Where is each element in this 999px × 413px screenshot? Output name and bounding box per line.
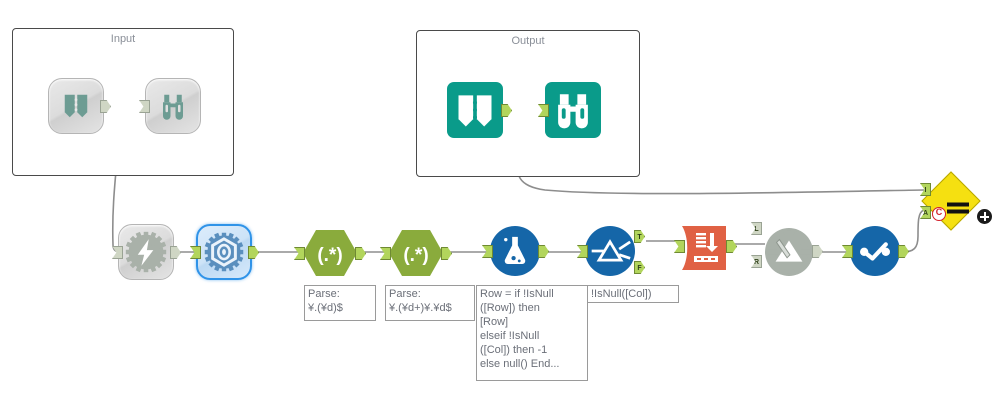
join-bottom-input-label: A [921, 207, 930, 218]
sort-input-port[interactable] [674, 240, 685, 253]
append-left-label: L [752, 223, 761, 234]
regex-1-body[interactable]: (.*) [302, 228, 358, 278]
append-output-port[interactable] [812, 245, 823, 258]
tool-input-data-disabled[interactable] [48, 78, 104, 134]
append-right-port[interactable]: R [751, 255, 762, 268]
run-command-input-port[interactable] [112, 246, 123, 259]
tool-filter[interactable]: T F [585, 226, 635, 276]
lightning-icon [124, 230, 168, 274]
select-input-port[interactable] [842, 245, 853, 258]
tool-macro-selected[interactable] [196, 224, 252, 280]
binoculars-icon [552, 89, 594, 131]
filter-input-port[interactable] [577, 245, 588, 258]
select-output-port[interactable] [898, 245, 909, 258]
filter-true-port[interactable]: T [634, 230, 645, 243]
svg-text:(.*): (.*) [317, 245, 342, 266]
join-top-input-label: I [921, 184, 930, 195]
flask-icon [498, 234, 532, 268]
append-left-port[interactable]: L [751, 222, 762, 235]
macro-output-port[interactable] [248, 246, 259, 259]
tool-run-command-disabled[interactable] [118, 224, 174, 280]
output-container-title: Output [417, 35, 639, 47]
regex-1-output-port[interactable] [355, 247, 366, 260]
tool-browse-disabled[interactable] [145, 78, 201, 134]
output-browse-body[interactable] [545, 82, 601, 138]
tool-formula[interactable] [490, 226, 540, 276]
regex-1-input-port[interactable] [294, 247, 305, 260]
browse-tool-body[interactable] [145, 78, 201, 134]
join-conflict-badge[interactable]: C [932, 207, 946, 221]
gear-eye-icon [203, 231, 245, 273]
filter-body[interactable] [585, 226, 635, 276]
regex-icon: (.*) [302, 228, 358, 278]
prism-icon [588, 229, 632, 273]
sort-output-port[interactable] [726, 240, 737, 253]
macro-body[interactable] [196, 224, 252, 280]
select-body[interactable] [850, 226, 900, 276]
checkmark-icon [855, 231, 895, 271]
input-container-title: Input [13, 33, 233, 45]
tool-output-browse[interactable] [545, 82, 601, 138]
append-right-label: R [752, 256, 761, 267]
tool-append-disabled[interactable]: L R [765, 228, 813, 276]
tool-sort[interactable] [680, 224, 730, 270]
join-bottom-input-port[interactable]: A [920, 206, 931, 219]
filter-true-label: T [635, 231, 644, 242]
macro-input-port[interactable] [190, 246, 201, 259]
append-body[interactable] [765, 228, 813, 276]
run-command-body[interactable] [118, 224, 174, 280]
svg-text:(.*): (.*) [403, 245, 428, 266]
formula-output-port[interactable] [538, 245, 549, 258]
book-icon [61, 91, 91, 121]
regex-icon: (.*) [388, 228, 444, 278]
filter-annotation: !IsNull([Col]) [587, 285, 679, 303]
regex-2-body[interactable]: (.*) [388, 228, 444, 278]
run-command-output-port[interactable] [170, 246, 181, 259]
regex-2-output-port[interactable] [441, 247, 452, 260]
tool-regex-1[interactable]: (.*) [302, 228, 358, 278]
sort-icon [680, 224, 732, 272]
tool-regex-2[interactable]: (.*) [388, 228, 444, 278]
filter-false-label: F [635, 262, 644, 273]
book-icon [453, 88, 497, 132]
formula-body[interactable] [490, 226, 540, 276]
join-top-input-port[interactable]: I [920, 183, 931, 196]
regex-1-annotation: Parse: ¥.(¥d)$ [304, 285, 376, 321]
append-icon [766, 229, 812, 275]
binoculars-icon [158, 91, 188, 121]
regex-2-input-port[interactable] [380, 247, 391, 260]
formula-input-port[interactable] [482, 245, 493, 258]
output-input-data-body[interactable] [447, 82, 503, 138]
regex-2-annotation: Parse: ¥.(¥d+)¥.¥d$ [385, 285, 475, 321]
tool-output-input-data[interactable] [447, 82, 503, 138]
tool-select[interactable] [850, 226, 900, 276]
filter-false-port[interactable]: F [634, 261, 645, 274]
workflow-canvas[interactable]: Input Output [0, 0, 999, 413]
input-data-tool-body[interactable] [48, 78, 104, 134]
formula-annotation: Row = if !IsNull ([Row]) then [Row] else… [476, 285, 588, 381]
equals-icon [947, 200, 969, 217]
sort-body[interactable] [680, 224, 730, 270]
join-add-button[interactable] [977, 209, 992, 224]
